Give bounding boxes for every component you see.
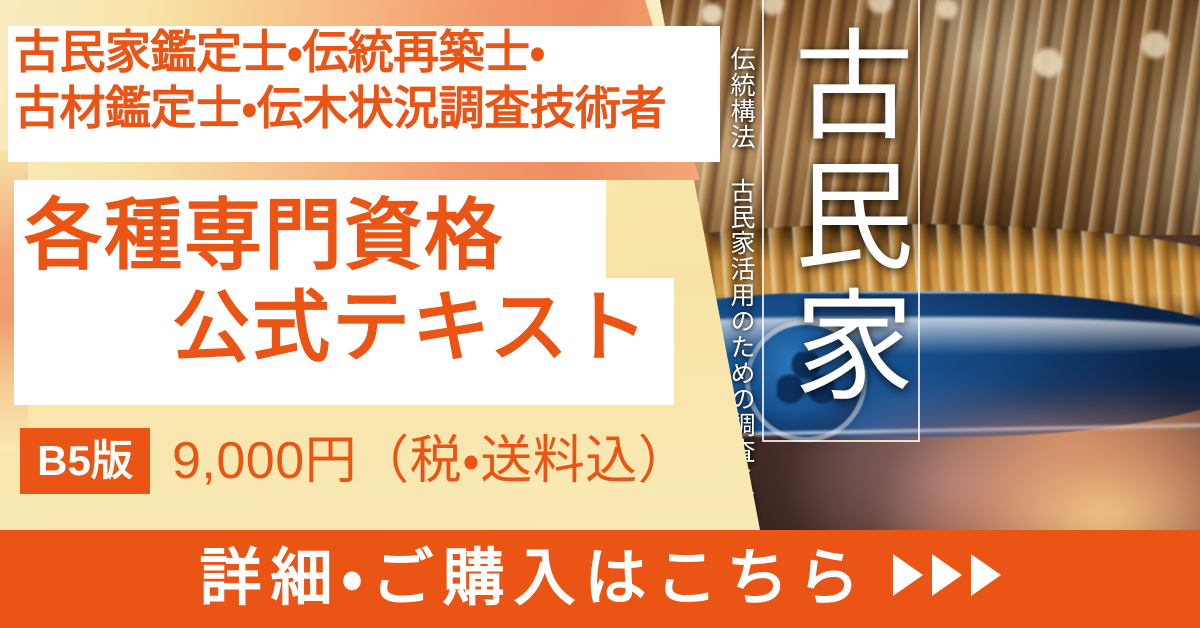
title-line-2: 公式テキスト xyxy=(172,288,650,366)
headline-line-2: 古材鑑定士・伝木状況調査技術者 xyxy=(14,82,666,134)
triangle-right-icon xyxy=(893,554,923,596)
cta-label: 詳細・ご購入はこちら xyxy=(199,530,868,628)
cta-arrows xyxy=(893,554,1001,596)
promo-banner: 古民家 伝統構法 古民家活用のための調査と再生の 古民家鑑定士・伝統再築士・古材… xyxy=(0,0,1200,628)
price-text: 9,000円（税・送料込） xyxy=(172,430,690,492)
cta-bar[interactable]: 詳細・ご購入はこちら xyxy=(0,530,1200,628)
cover-title: 古民家 xyxy=(768,8,914,428)
headline-text: 古民家鑑定士・伝統再築士・古材鑑定士・伝木状況調査技術者 xyxy=(14,24,666,136)
title-line-1: 各種専門資格 xyxy=(24,196,504,274)
headline-line-1: 古民家鑑定士・伝統再築士・ xyxy=(14,26,545,78)
triangle-right-icon xyxy=(932,554,962,596)
size-badge: B5版 xyxy=(20,428,150,494)
triangle-right-icon xyxy=(971,554,1001,596)
